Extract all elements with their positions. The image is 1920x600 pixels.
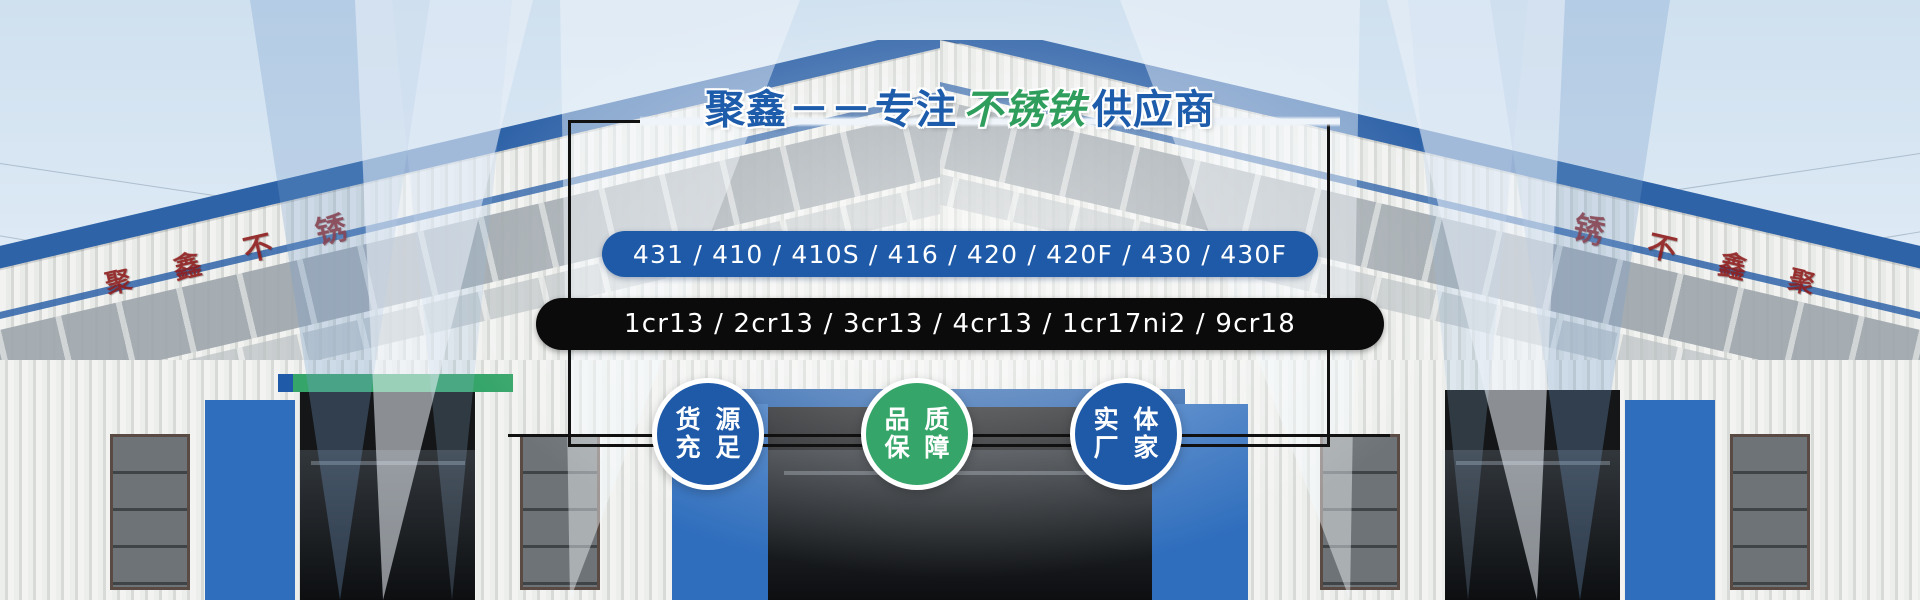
- headline-segment-supplier: 供应商: [1092, 90, 1215, 130]
- bay-interior: [300, 450, 475, 600]
- badge-factory: 实 体 厂 家: [1070, 378, 1182, 490]
- badge-supply-line1: 货 源: [673, 406, 744, 434]
- loading-bay: [1445, 390, 1620, 600]
- badge-quality-line1: 品 质: [882, 406, 953, 434]
- blue-door-panel: [1625, 400, 1715, 600]
- badge-factory-line2: 厂 家: [1091, 434, 1162, 462]
- headline: 聚鑫 －－ 专注 不锈铁 供应商: [0, 82, 1920, 138]
- factory-window: [1320, 434, 1400, 590]
- badge-factory-line1: 实 体: [1091, 406, 1162, 434]
- blue-door-panel: [205, 400, 295, 600]
- badge-supply: 货 源 充 足: [652, 378, 764, 490]
- factory-window: [1730, 434, 1810, 590]
- bay-canopy: [293, 374, 513, 392]
- badge-quality: 品 质 保 障: [861, 378, 973, 490]
- badge-supply-line2: 充 足: [673, 434, 744, 462]
- promo-banner: 聚 鑫 不 锈 聚 鑫 不 锈: [0, 0, 1920, 600]
- headline-segment-product: 不锈铁: [957, 90, 1092, 130]
- grade-bar-black-text: 1cr13 / 2cr13 / 3cr13 / 4cr13 / 1cr17ni2…: [624, 309, 1296, 339]
- badge-quality-line2: 保 障: [882, 434, 953, 462]
- grade-bar-blue-text: 431 / 410 / 410S / 416 / 420 / 420F / 43…: [633, 240, 1287, 269]
- bay-beam: [311, 461, 465, 465]
- grade-bar-black: 1cr13 / 2cr13 / 3cr13 / 4cr13 / 1cr17ni2…: [536, 298, 1384, 350]
- headline-segment-dash: －－: [787, 90, 875, 130]
- headline-segment-focus: 专注: [875, 90, 957, 130]
- loading-bay: [300, 390, 475, 600]
- grade-bar-blue: 431 / 410 / 410S / 416 / 420 / 420F / 43…: [602, 231, 1318, 277]
- bay-beam: [1456, 461, 1610, 465]
- headline-segment-company: 聚鑫: [705, 90, 787, 130]
- factory-window: [110, 434, 190, 590]
- bay-interior: [1445, 450, 1620, 600]
- badge-row: 货 源 充 足 品 质 保 障 实 体 厂 家: [568, 378, 1330, 490]
